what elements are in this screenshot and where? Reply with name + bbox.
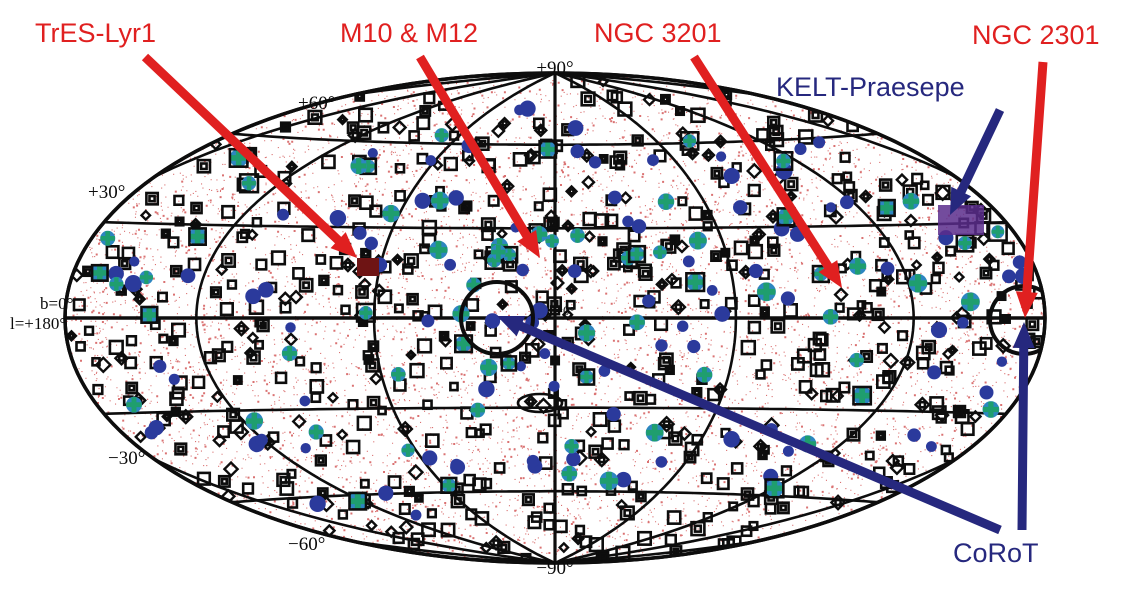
field-marker-dark-blue-circle (749, 264, 763, 278)
field-marker-dark-blue-circle (365, 237, 378, 250)
field-marker-dark-blue-circle (421, 314, 434, 327)
field-marker-dark-blue-circle (516, 264, 529, 277)
field-marker-dark-blue-circle (642, 294, 655, 307)
field-marker-dark-blue-circle (300, 396, 311, 407)
field-marker-dark-blue-circle (568, 120, 584, 136)
field-marker-dark-blue-circle (153, 360, 166, 373)
field-marker-dark-blue-circle (781, 291, 795, 305)
field-marker-dark-blue-circle (997, 356, 1007, 366)
field-marker-dark-blue-circle (549, 381, 560, 392)
field-marker-dark-blue-circle (368, 148, 378, 158)
sky-map-figure: TrES-Lyr1 M10 & M12 NGC 3201 KELT-Praese… (0, 0, 1143, 593)
field-marker-dark-blue-circle (516, 361, 526, 371)
field-marker-dark-blue-circle (485, 313, 500, 328)
annotation-label-m10-m12: M10 & M12 (340, 18, 478, 49)
field-marker-dark-blue-circle (813, 136, 825, 148)
axis-label-lat-minus90: −90° (536, 558, 573, 580)
field-marker-dark-blue-circle (723, 431, 739, 447)
field-marker-dark-blue-circle (378, 486, 393, 501)
axis-label-lat-minus60: −60° (288, 534, 325, 556)
field-marker-dark-blue-circle (422, 450, 437, 465)
field-marker-dark-blue-circle (632, 219, 646, 233)
field-marker-dark-blue-circle (181, 268, 196, 283)
field-marker-dark-blue-circle (606, 407, 620, 421)
field-marker-dark-blue-circle (149, 420, 164, 435)
field-marker-dark-blue-circle (687, 340, 700, 353)
field-marker-dark-blue-circle (258, 282, 274, 298)
field-marker-dark-blue-circle (907, 428, 921, 442)
field-marker-dark-blue-circle (448, 190, 464, 206)
field-marker-dark-blue-circle (647, 154, 659, 166)
field-marker-dark-blue-circle (589, 156, 601, 168)
field-marker-dark-blue-circle (714, 306, 730, 322)
field-marker-dark-blue-circle (566, 452, 580, 466)
field-marker-dark-blue-circle (881, 262, 895, 276)
axis-label-b-zero: b=0° (40, 294, 73, 314)
axis-label-lat-plus30: +30° (88, 182, 125, 204)
field-marker-dark-blue-circle (840, 195, 854, 209)
axis-label-lat-plus90: +90° (536, 58, 573, 80)
field-marker-dark-blue-circle (309, 496, 325, 512)
field-marker-dark-blue-circle (285, 322, 295, 332)
field-marker-dark-blue-circle (255, 434, 267, 446)
field-marker-dark-blue-circle (655, 339, 667, 351)
annotation-label-ngc-2301: NGC 2301 (972, 20, 1100, 51)
field-marker-dark-blue-circle (444, 259, 456, 271)
field-marker-dark-blue-circle (677, 321, 688, 332)
annotation-label-kelt-praesepe: KELT-Praesepe (776, 72, 965, 103)
field-marker-dark-blue-circle (783, 446, 794, 457)
field-marker-dark-blue-circle (330, 210, 346, 226)
field-marker-dark-blue-circle (683, 255, 695, 267)
sky-map-canvas (0, 0, 1143, 593)
field-marker-dark-blue-circle (707, 285, 718, 296)
axis-label-l-plus180: l=+180° (10, 314, 66, 334)
annotation-label-ngc-3201: NGC 3201 (594, 18, 722, 49)
field-marker-dark-blue-circle (608, 191, 622, 205)
axis-label-lat-plus60: +60° (298, 93, 335, 115)
field-marker-dark-blue-circle (450, 460, 465, 475)
axis-label-l-zero: l=0° (552, 303, 575, 319)
field-marker-dark-blue-circle (571, 144, 585, 158)
field-marker-dark-blue-circle (716, 151, 726, 161)
region-kelt-praesepe (938, 205, 984, 235)
field-marker-dark-blue-circle (931, 322, 947, 338)
field-marker-dark-blue-circle (724, 168, 740, 184)
field-marker-dark-blue-circle (125, 275, 142, 292)
field-marker-dark-blue-circle (277, 209, 289, 221)
axis-label-lat-minus30: −30° (108, 448, 145, 470)
field-marker-dark-blue-circle (1002, 270, 1016, 284)
field-marker-dark-blue-circle (957, 317, 968, 328)
field-marker-dark-blue-circle (733, 200, 748, 215)
region-tres-lyr1 (357, 258, 379, 276)
field-marker-dark-blue-circle (527, 455, 540, 468)
field-marker-dark-blue-circle (129, 256, 139, 266)
field-marker-dark-blue-circle (411, 510, 422, 521)
field-marker-dark-blue-circle (980, 386, 994, 400)
field-marker-dark-blue-circle (478, 381, 494, 397)
field-marker-dark-blue-circle (169, 374, 180, 385)
field-marker-dark-blue-circle (353, 226, 366, 239)
field-marker-dark-blue-circle (794, 143, 806, 155)
field-marker-dark-blue-circle (539, 348, 550, 359)
field-marker-dark-blue-circle (415, 193, 431, 209)
field-marker-dark-blue-circle (926, 441, 937, 452)
field-marker-dark-blue-circle (520, 101, 536, 117)
field-marker-dark-blue-circle (568, 264, 582, 278)
annotation-label-tres-lyr1: TrES-Lyr1 (35, 18, 156, 49)
field-marker-dark-blue-circle (927, 365, 941, 379)
field-marker-dark-blue-circle (656, 456, 668, 468)
field-marker-dark-blue-circle (301, 443, 311, 453)
field-marker-dark-blue-circle (425, 155, 436, 166)
field-marker-dark-blue-circle (826, 202, 836, 212)
annotation-label-corot: CoRoT (953, 538, 1039, 569)
